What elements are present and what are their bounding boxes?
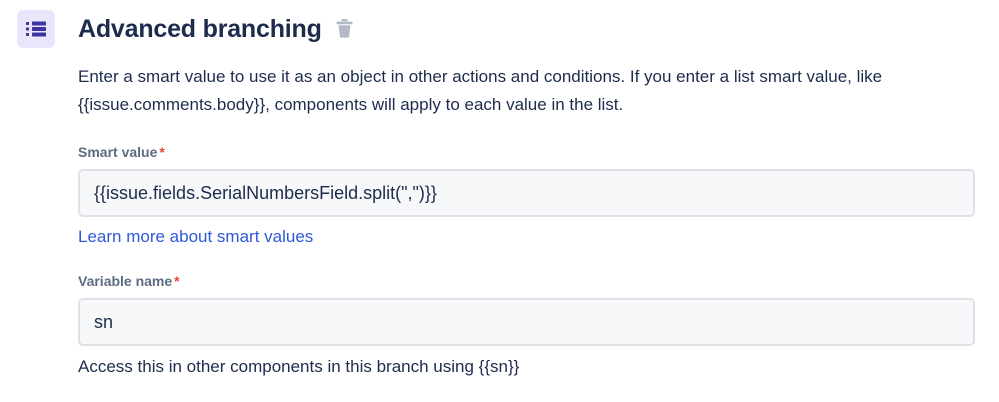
page-title: Advanced branching <box>78 14 322 44</box>
component-description: Enter a smart value to use it as an obje… <box>78 63 975 119</box>
advanced-branching-panel: Advanced branching Enter a smart value t… <box>0 0 999 402</box>
variable-name-label: Variable name* <box>78 272 975 290</box>
smart-value-label: Smart value* <box>78 143 975 161</box>
title-wrap: Advanced branching <box>78 14 355 44</box>
required-asterisk: * <box>174 273 179 289</box>
component-header: Advanced branching <box>0 0 999 48</box>
learn-more-smart-values-link[interactable]: Learn more about smart values <box>78 226 313 248</box>
component-body: Enter a smart value to use it as an obje… <box>0 63 999 379</box>
variable-name-label-text: Variable name <box>78 273 172 289</box>
smart-value-field-group: Smart value* Learn more about smart valu… <box>78 143 975 248</box>
variable-name-help-text: Access this in other components in this … <box>78 355 975 379</box>
trash-icon[interactable] <box>335 18 355 40</box>
smart-value-input[interactable] <box>78 169 975 217</box>
list-bullet-icon <box>17 10 55 48</box>
required-asterisk: * <box>159 144 164 160</box>
smart-value-label-text: Smart value <box>78 144 157 160</box>
variable-name-field-group: Variable name* Access this in other comp… <box>78 272 975 379</box>
variable-name-input[interactable] <box>78 298 975 346</box>
